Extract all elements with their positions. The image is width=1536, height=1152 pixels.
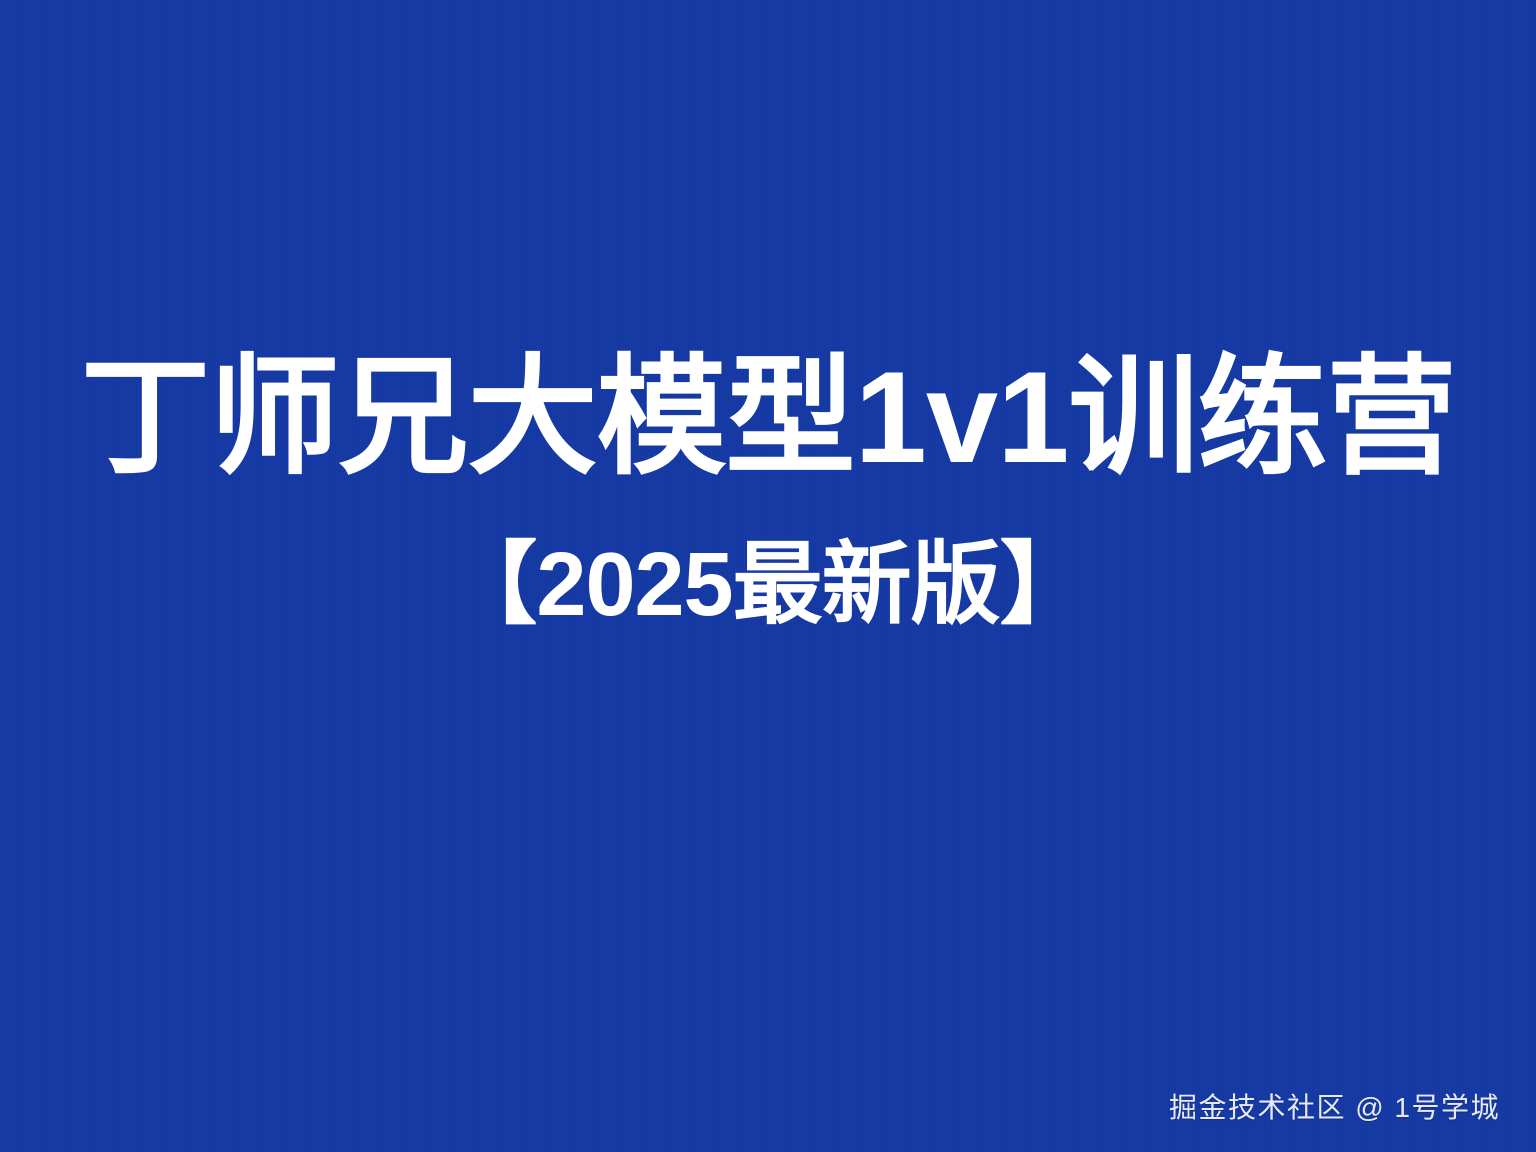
subtitle-row: 【2025最新版】: [0, 482, 1536, 630]
page-subtitle: 【2025最新版】: [447, 540, 1088, 630]
watermark: 掘金技术社区 @ 1号学城: [1169, 1091, 1500, 1125]
title-block: 丁师兄大模型1v1训练营 【2025最新版】: [0, 352, 1536, 630]
course-title-slide: 丁师兄大模型1v1训练营 【2025最新版】 掘金技术社区 @ 1号学城: [0, 0, 1536, 1152]
page-title: 丁师兄大模型1v1训练营: [0, 352, 1536, 482]
